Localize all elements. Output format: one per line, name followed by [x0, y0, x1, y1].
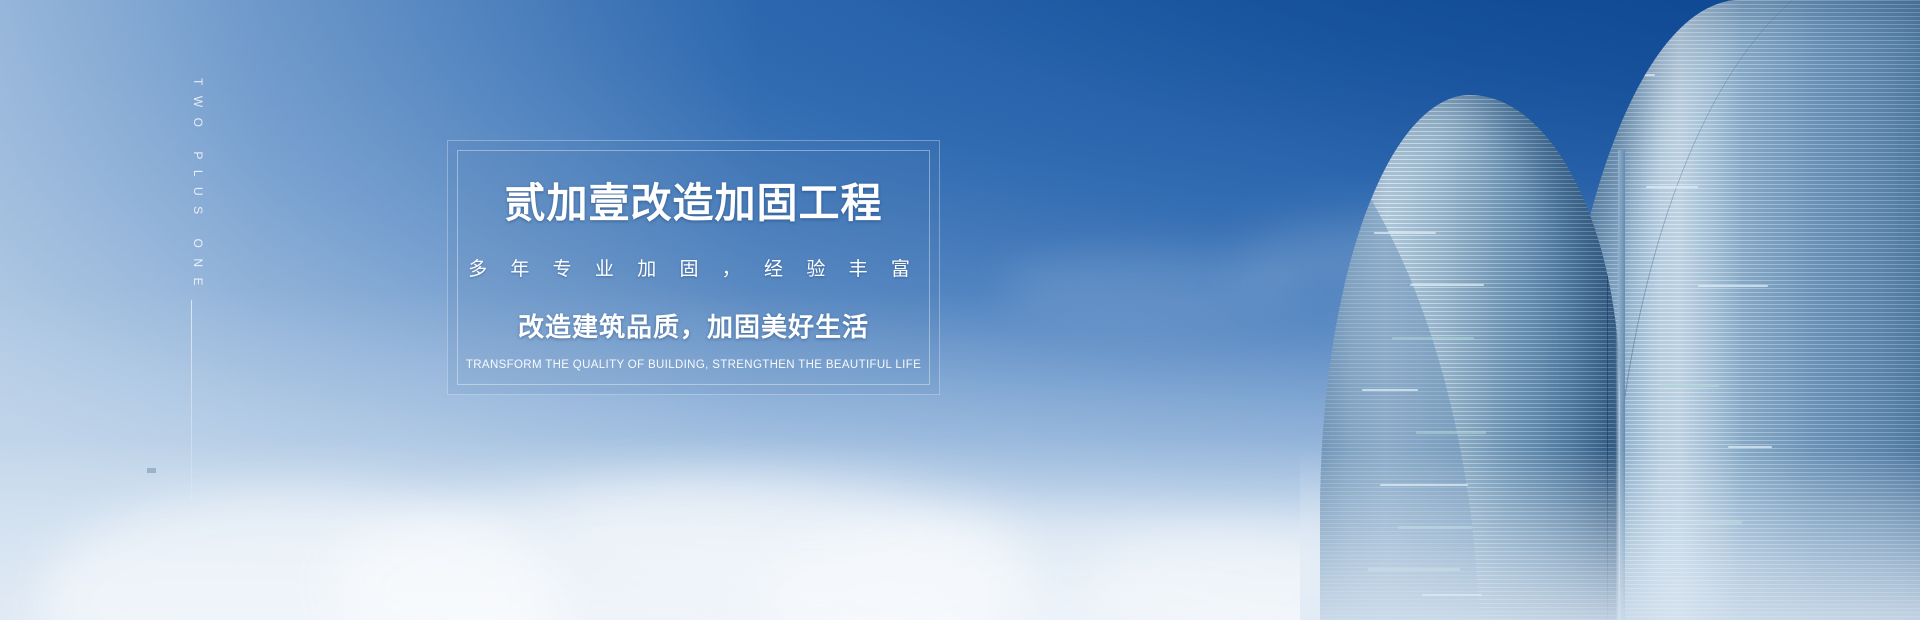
hero-banner: TWO PLUS ONE 贰加壹改造加固工程 多 年 专 业 加 固 ， 经 验…	[0, 0, 1920, 620]
vertical-brand-text: TWO PLUS ONE	[190, 78, 206, 308]
cloud-wisp	[1000, 250, 1300, 320]
cloud-bank	[560, 470, 1020, 590]
english-caption: TRANSFORM THE QUALITY OF BUILDING, STREN…	[466, 359, 921, 371]
brand-dash-mark	[147, 468, 156, 473]
page-title: 贰加壹改造加固工程	[505, 183, 883, 224]
tower-base-haze	[1300, 450, 1920, 620]
vertical-brand-label: TWO PLUS ONE	[191, 78, 205, 296]
headline-panel: 贰加壹改造加固工程 多 年 专 业 加 固 ， 经 验 丰 富 改造建筑品质，加…	[447, 140, 940, 395]
window-strip	[1416, 431, 1486, 434]
window-strip	[1410, 284, 1484, 286]
skyscraper-illustration	[1300, 0, 1920, 620]
subtitle-text: 改造建筑品质，加固美好生活	[518, 307, 869, 344]
vertical-rule-divider	[191, 300, 192, 500]
window-strip	[1646, 186, 1698, 188]
window-strip	[1374, 232, 1436, 234]
window-strip	[1392, 337, 1474, 340]
window-strip	[1698, 285, 1768, 287]
window-strip	[1661, 384, 1719, 387]
tagline-text: 多 年 专 业 加 固 ， 经 验 丰 富	[468, 254, 919, 281]
headline-panel-content: 贰加壹改造加固工程 多 年 专 业 加 固 ， 经 验 丰 富 改造建筑品质，加…	[448, 141, 939, 394]
window-strip	[1362, 389, 1418, 391]
